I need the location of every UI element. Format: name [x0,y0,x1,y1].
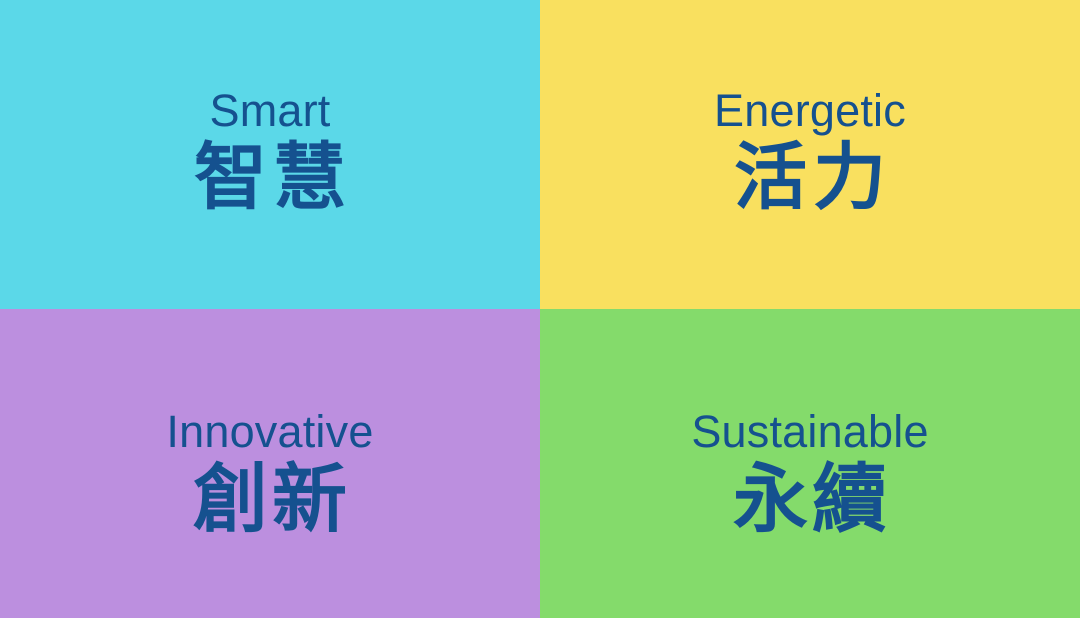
value-card-energetic: Energetic 活力 [540,0,1080,309]
value-card-smart: Smart 智慧 [0,0,540,309]
value-label-zh: 永續 [733,460,891,540]
value-card-innovative: Innovative 創新 [0,309,540,618]
value-label-en: Innovative [166,409,373,454]
value-card-text: Energetic 活力 [540,0,1080,216]
value-card-sustainable: Sustainable 永續 [540,309,1080,618]
value-label-zh: 創新 [193,460,351,540]
value-card-text: Innovative 創新 [0,309,540,540]
value-label-en: Smart [209,88,330,133]
value-card-text: Smart 智慧 [0,0,540,216]
value-label-en: Energetic [714,88,906,133]
value-label-zh: 活力 [734,139,892,216]
value-pillars-grid: Smart 智慧 Energetic 活力 Innovative 創新 Sust… [0,0,1080,618]
value-label-zh: 智慧 [194,139,352,216]
value-label-en: Sustainable [691,409,928,454]
value-card-text: Sustainable 永續 [540,309,1080,540]
